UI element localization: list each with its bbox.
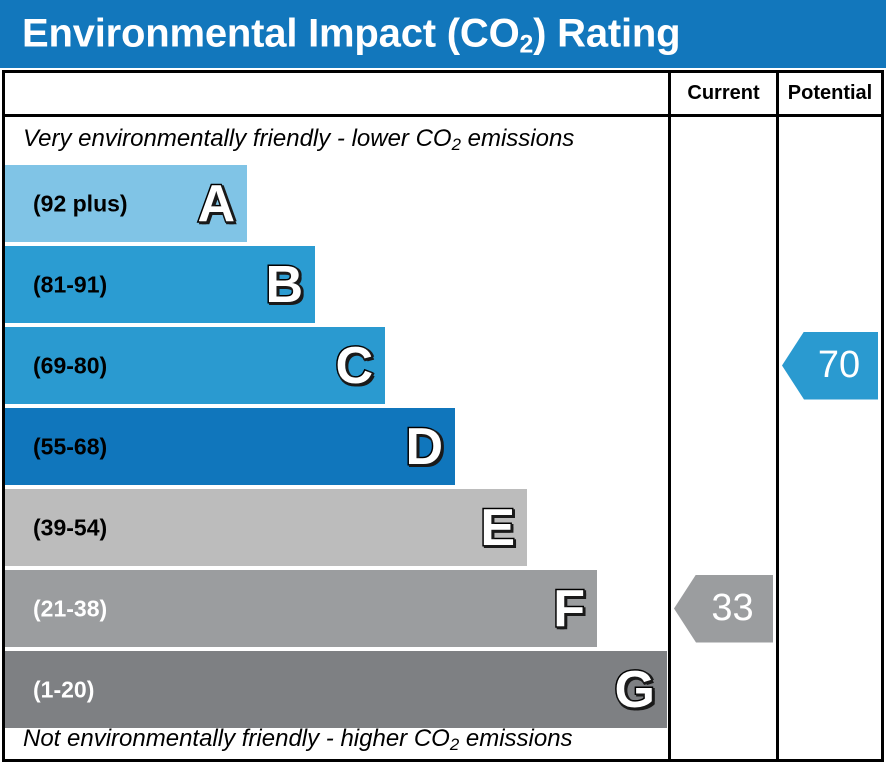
caption-top-pre: Very environmentally friendly - lower CO [23, 125, 452, 152]
page-title-post: ) Rating [533, 12, 680, 56]
rating-table: Current Potential Very environmentally f… [2, 70, 884, 762]
bands-column: Very environmentally friendly - lower CO… [5, 117, 668, 759]
table-body: Very environmentally friendly - lower CO… [5, 117, 881, 759]
column-header-potential: Potential [776, 73, 881, 114]
band-bar-c: (69-80) C [5, 327, 385, 404]
page-title-pre: Environmental Impact (CO [22, 12, 520, 56]
band-bar-b: (81-91) B [5, 246, 315, 323]
band-letter-f: F [553, 583, 585, 635]
band-list: (92 plus) A (81-91) B (69-80) C [5, 165, 668, 728]
table-header-row: Current Potential [5, 73, 881, 117]
band-bar-d: (55-68) D [5, 408, 455, 485]
page-title-subscript: 2 [520, 32, 534, 59]
band-letter-e: E [480, 502, 515, 554]
band-range-b: (81-91) [33, 271, 107, 298]
column-divider-potential [776, 117, 779, 759]
band-row-a: (92 plus) A [5, 165, 668, 242]
band-range-f: (21-38) [33, 595, 107, 622]
band-letter-b: B [265, 259, 303, 311]
band-range-g: (1-20) [33, 676, 94, 703]
band-range-a: (92 plus) [33, 190, 128, 217]
band-row-f: (21-38) F [5, 570, 668, 647]
band-row-e: (39-54) E [5, 489, 668, 566]
current-rating-arrow: 33 [674, 575, 773, 643]
band-letter-a: A [197, 178, 235, 230]
band-range-c: (69-80) [33, 352, 107, 379]
caption-bottom-subscript: 2 [450, 735, 459, 754]
band-range-d: (55-68) [33, 433, 107, 460]
band-bar-g: (1-20) G [5, 651, 667, 728]
band-bar-a: (92 plus) A [5, 165, 247, 242]
band-letter-d: D [405, 421, 443, 473]
caption-bottom-pre: Not environmentally friendly - higher CO [23, 725, 450, 752]
band-bar-f: (21-38) F [5, 570, 597, 647]
band-letter-g: G [615, 664, 655, 716]
band-row-c: (69-80) C [5, 327, 668, 404]
page-title: Environmental Impact (CO2) Rating [22, 12, 680, 57]
caption-bottom: Not environmentally friendly - higher CO… [23, 725, 573, 753]
header-blank-cell [5, 73, 668, 114]
potential-rating-arrow: 70 [782, 332, 878, 400]
band-letter-c: C [335, 340, 373, 392]
band-row-d: (55-68) D [5, 408, 668, 485]
band-row-b: (81-91) B [5, 246, 668, 323]
caption-top: Very environmentally friendly - lower CO… [23, 125, 574, 153]
band-range-e: (39-54) [33, 514, 107, 541]
caption-top-subscript: 2 [452, 135, 461, 154]
chart-header-banner: Environmental Impact (CO2) Rating [0, 0, 886, 68]
column-divider-current [668, 117, 671, 759]
epc-environmental-impact-chart: Environmental Impact (CO2) Rating Curren… [0, 0, 886, 764]
column-header-current: Current [668, 73, 776, 114]
band-row-g: (1-20) G [5, 651, 668, 728]
caption-top-post: emissions [461, 125, 574, 152]
caption-bottom-post: emissions [459, 725, 572, 752]
band-bar-e: (39-54) E [5, 489, 527, 566]
